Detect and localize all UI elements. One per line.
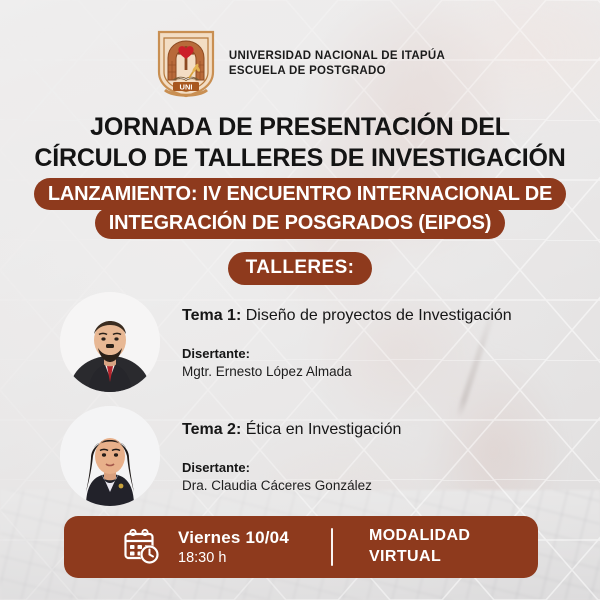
workshop-item: Tema 2: Ética en Investigación Disertant… <box>60 406 560 506</box>
workshop-topic-title: Ética en Investigación <box>241 421 401 438</box>
event-date: Viernes 10/04 <box>178 527 289 548</box>
event-time: 18:30 h <box>178 549 289 567</box>
workshop-item: Tema 1: Diseño de proyectos de Investiga… <box>60 292 560 392</box>
event-details-bar: Viernes 10/04 18:30 h MODALIDAD VIRTUAL <box>64 516 538 578</box>
event-datetime: Viernes 10/04 18:30 h <box>178 527 289 566</box>
event-flyer: UNI UNIVERSIDAD NACIONAL DE ITAPÚA ESCUE… <box>0 0 600 600</box>
speaker-label: Disertante: <box>182 460 401 475</box>
organization-name: UNIVERSIDAD NACIONAL DE ITAPÚA ESCUELA D… <box>229 50 445 77</box>
speaker-name: Mgtr. Ernesto López Almada <box>182 364 512 379</box>
page-title: JORNADA DE PRESENTACIÓN DEL CÍRCULO DE T… <box>0 112 600 173</box>
workshop-topic: Tema 2: Ética en Investigación <box>182 420 401 440</box>
workshop-topic: Tema 1: Diseño de proyectos de Investiga… <box>182 306 512 326</box>
modality-line-1: MODALIDAD <box>369 526 470 547</box>
workshop-text: Tema 2: Ética en Investigación Disertant… <box>182 406 401 493</box>
org-line-school: ESCUELA DE POSTGRADO <box>229 65 445 77</box>
speaker-label: Disertante: <box>182 346 512 361</box>
launch-banner: LANZAMIENTO: IV ENCUENTRO INTERNACIONAL … <box>0 180 600 238</box>
talleres-heading: TALLERES: <box>0 252 600 285</box>
title-line-2: CÍRCULO DE TALLERES DE INVESTIGACIÓN <box>0 143 600 174</box>
header: UNI UNIVERSIDAD NACIONAL DE ITAPÚA ESCUE… <box>0 28 600 98</box>
uni-shield-logo: UNI <box>155 28 217 98</box>
modality-line-2: VIRTUAL <box>369 547 470 568</box>
speaker-photo-claudia-caceres-gonzalez <box>60 406 160 506</box>
speaker-photo-ernesto-lopez-almada <box>60 292 160 392</box>
calendar-clock-icon <box>122 527 162 567</box>
title-line-1: JORNADA DE PRESENTACIÓN DEL <box>0 112 600 143</box>
svg-text:UNI: UNI <box>179 82 192 91</box>
event-modality: MODALIDAD VIRTUAL <box>369 526 470 568</box>
workshop-topic-title: Diseño de proyectos de Investigación <box>241 307 511 324</box>
talleres-label: TALLERES: <box>228 252 373 285</box>
launch-banner-text: LANZAMIENTO: IV ENCUENTRO INTERNACIONAL … <box>34 178 566 239</box>
org-line-university: UNIVERSIDAD NACIONAL DE ITAPÚA <box>229 50 445 62</box>
workshop-topic-label: Tema 1: <box>182 307 241 324</box>
speaker-name: Dra. Claudia Cáceres González <box>182 478 401 493</box>
vertical-divider <box>331 528 333 566</box>
workshop-text: Tema 1: Diseño de proyectos de Investiga… <box>182 292 512 379</box>
workshop-topic-label: Tema 2: <box>182 421 241 438</box>
